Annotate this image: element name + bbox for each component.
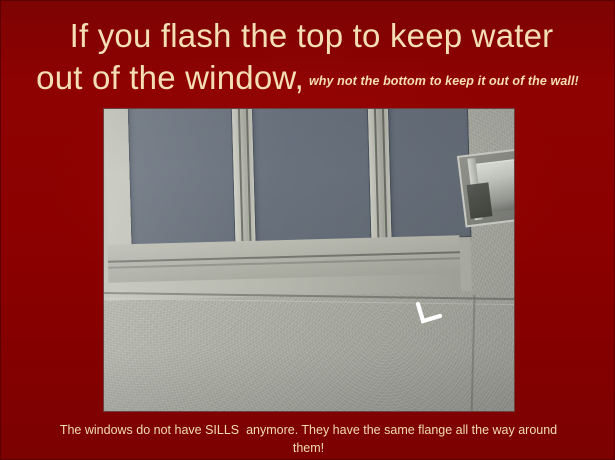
slide-canvas: If you flash the top to keep water out o… [0,0,615,460]
annotation-arrow-icon [414,299,448,329]
title-subtext: why not the bottom to keep it out of the… [304,74,579,88]
wall-shading [104,109,514,411]
title-line-2: out of the window, [36,59,304,96]
title-line-1: If you flash the top to keep water [1,19,615,52]
photo-content [104,109,514,411]
wall-photo [104,109,514,411]
slide-title-block: If you flash the top to keep water out o… [1,19,615,94]
slide-caption: The windows do not have SILLS anymore. T… [46,421,571,457]
title-line-2-row: out of the window,why not the bottom to … [1,61,615,94]
